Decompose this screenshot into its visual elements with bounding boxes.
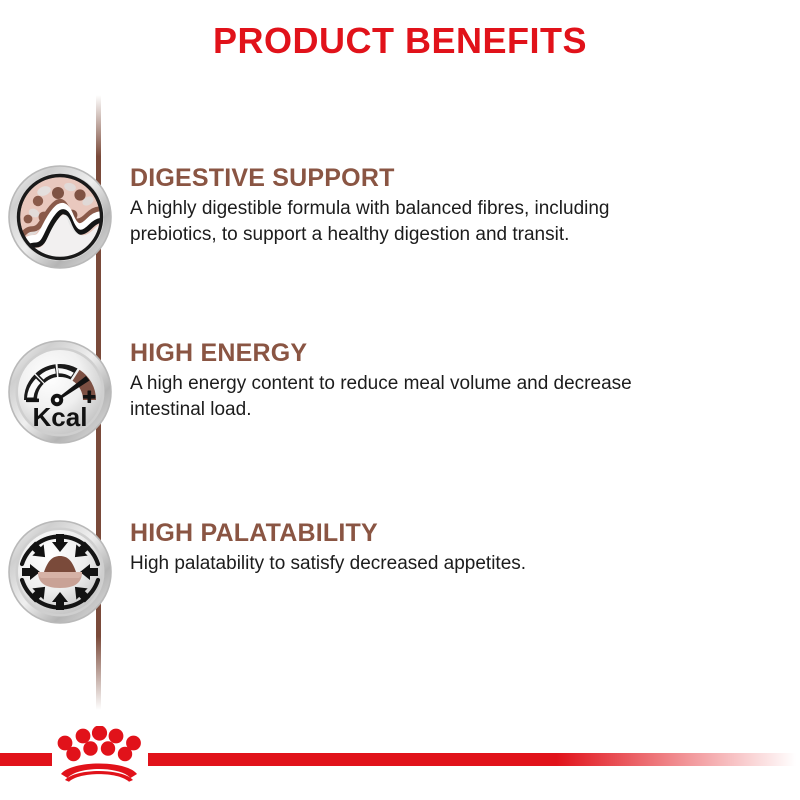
benefit-text-high-palatability: HIGH PALATABILITY High palatability to s… xyxy=(120,520,680,577)
icon-container-high-energy: Kcal xyxy=(0,340,120,444)
royal-canin-crown-logo xyxy=(56,726,142,782)
benefit-heading: HIGH PALATABILITY xyxy=(130,520,680,546)
icon-container-digestive-support xyxy=(0,165,120,269)
benefit-row-digestive-support: DIGESTIVE SUPPORT A highly digestible fo… xyxy=(0,165,800,269)
product-benefits-page: PRODUCT BENEFITS xyxy=(0,0,800,800)
footer-bar-left xyxy=(0,753,52,766)
page-title: PRODUCT BENEFITS xyxy=(0,20,800,62)
benefit-text-digestive-support: DIGESTIVE SUPPORT A highly digestible fo… xyxy=(120,165,680,247)
high-palatability-icon xyxy=(8,520,112,624)
benefit-body: A high energy content to reduce meal vol… xyxy=(130,371,680,422)
benefit-heading: HIGH ENERGY xyxy=(130,340,680,366)
benefit-text-high-energy: HIGH ENERGY A high energy content to red… xyxy=(120,340,680,422)
footer-bar-right xyxy=(148,753,796,766)
benefit-heading: DIGESTIVE SUPPORT xyxy=(130,165,680,191)
benefit-row-high-energy: Kcal HIGH ENERGY A high energy content t… xyxy=(0,340,800,444)
digestive-support-icon xyxy=(8,165,112,269)
benefit-body: High palatability to satisfy decreased a… xyxy=(130,551,680,576)
icon-container-high-palatability xyxy=(0,520,120,624)
benefit-body: A highly digestible formula with balance… xyxy=(130,196,680,247)
benefit-row-high-palatability: HIGH PALATABILITY High palatability to s… xyxy=(0,520,800,624)
high-energy-kcal-gauge-icon: Kcal xyxy=(8,340,112,444)
kcal-label: Kcal xyxy=(33,402,88,432)
